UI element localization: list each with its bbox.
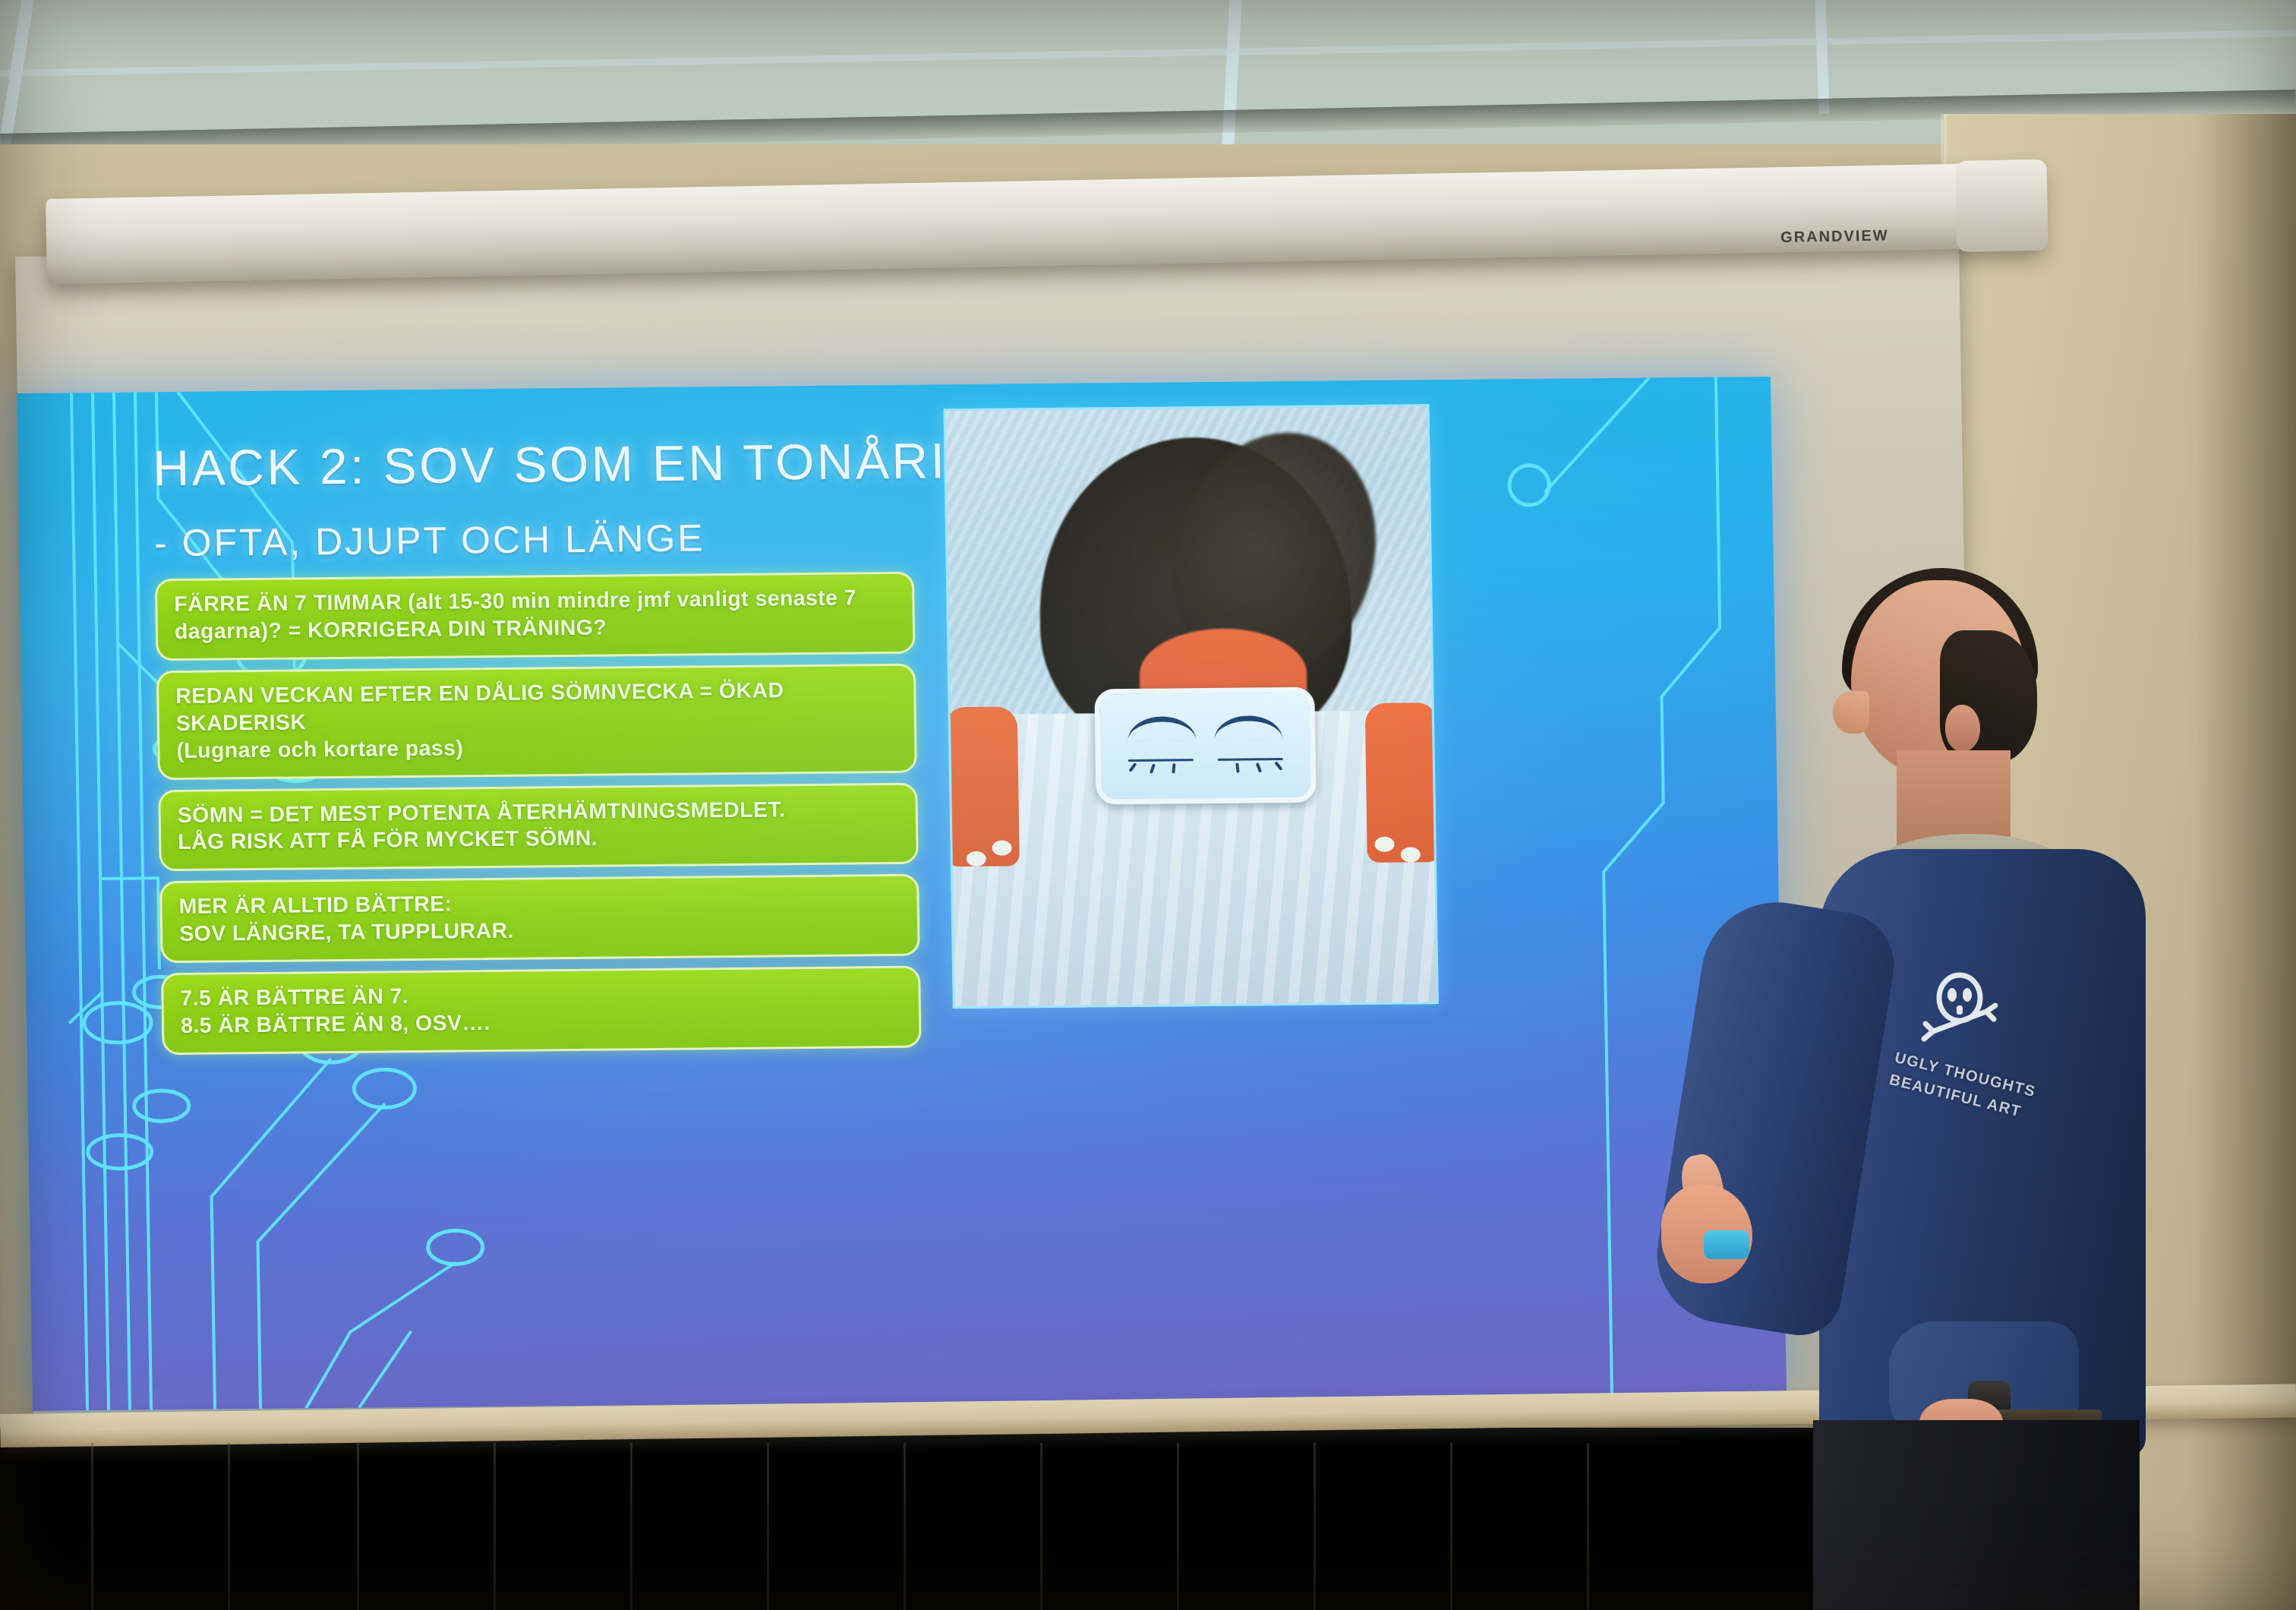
ceiling-grid-line [1815, 0, 1830, 114]
nose [1833, 691, 1869, 734]
eyelash-icon [1172, 763, 1175, 773]
fingernail [1401, 847, 1421, 862]
fingernail [967, 851, 986, 867]
screen-end-cap [1956, 159, 2048, 252]
eyelash-icon [1256, 762, 1262, 773]
phone-screen [1094, 687, 1316, 805]
eyelash-icon [1235, 762, 1240, 772]
fingernail [1374, 837, 1394, 852]
bullet-line: SOV LÄNGRE, TA TUPPLURAR. [179, 914, 901, 949]
sleeping-person-photo [943, 404, 1438, 1009]
bullet-line: 8.5 ÄR BÄTTRE ÄN 8, OSV…. [181, 1006, 903, 1040]
closed-eye-icon [1128, 759, 1194, 762]
room-scene: HACK 2: SOV SOM EN TONÅRING - OFTA, DJUP… [0, 0, 2296, 1610]
bullet-box: REDAN VECKAN EFTER EN DÅLIG SÖMNVECKA = … [156, 663, 917, 779]
ear [1945, 705, 1980, 752]
left-hand [945, 706, 1020, 867]
ceiling-grid-line [0, 30, 2296, 77]
trousers [1813, 1420, 2140, 1610]
bullet-box: MER ÄR ALLTID BÄTTRE: SOV LÄNGRE, TA TUP… [159, 874, 920, 963]
bullet-box: FÄRRE ÄN 7 TIMMAR (alt 15-30 min mindre … [155, 572, 916, 661]
eyelash-icon [1274, 761, 1282, 771]
closed-eye-icon [1218, 758, 1283, 761]
eyelash-icon [1150, 763, 1156, 774]
sleepy-eyebrow-icon [1214, 715, 1283, 740]
fingernail [992, 840, 1011, 855]
slide-subtitle: - OFTA, DJUPT OCH LÄNGE [154, 516, 705, 565]
skull-and-crossbones-icon [1918, 972, 2001, 1063]
presentation-clicker[interactable] [1704, 1230, 1749, 1259]
eyelash-icon [1128, 762, 1137, 772]
presentation-slide: HACK 2: SOV SOM EN TONÅRING - OFTA, DJUP… [17, 377, 1787, 1411]
presenter: UGLY THOUGHTS BEAUTIFUL ART [1769, 577, 2225, 1610]
sleepy-eyebrow-icon [1127, 716, 1197, 741]
screen-brand-label: GRANDVIEW [1780, 226, 1947, 247]
slide-title: HACK 2: SOV SOM EN TONÅRING [153, 431, 1028, 497]
bullet-box-list: FÄRRE ÄN 7 TIMMAR (alt 15-30 min mindre … [155, 572, 922, 1065]
bullet-line: LÅG RISK ATT FÅ FÖR MYCKET SÖMN. [178, 822, 900, 857]
bullet-line: REDAN VECKAN EFTER EN DÅLIG SÖMNVECKA = … [175, 677, 897, 738]
right-hand [1365, 702, 1439, 863]
bullet-box: 7.5 ÄR BÄTTRE ÄN 7. 8.5 ÄR BÄTTRE ÄN 8, … [161, 966, 922, 1055]
bullet-box: SÖMN = DET MEST POTENTA ÅTERHÄMTNINGSMED… [158, 782, 919, 871]
